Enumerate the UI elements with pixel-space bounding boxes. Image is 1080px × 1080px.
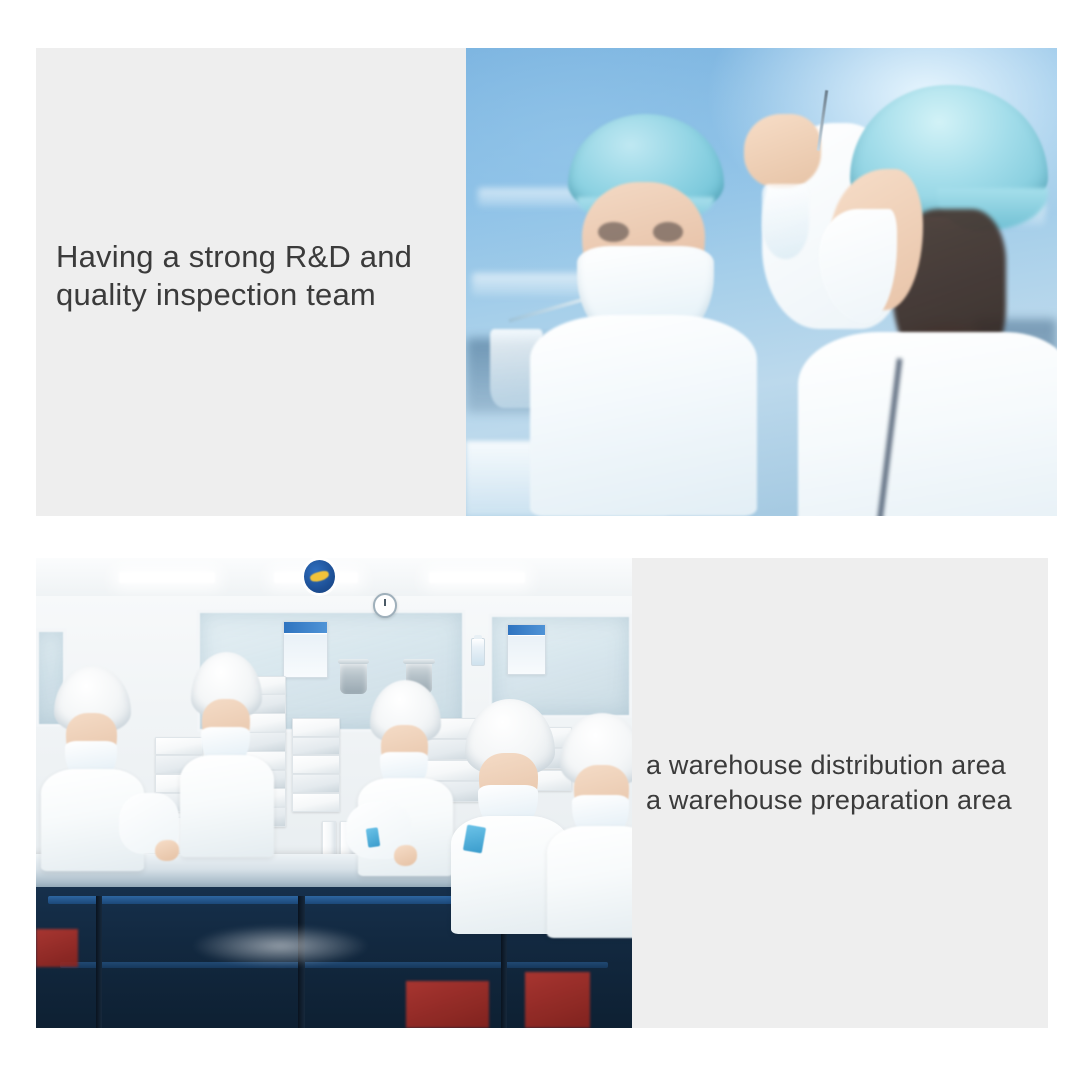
carton-box	[292, 755, 340, 774]
flask-icon	[762, 184, 809, 259]
wall-poster	[507, 624, 546, 676]
red-accent	[36, 929, 78, 967]
warehouse-packaging-photo	[36, 558, 632, 1028]
lab-inspection-photo	[466, 48, 1057, 516]
steel-pot	[340, 661, 367, 694]
red-accent	[406, 981, 489, 1028]
top-caption-text: Having a strong R&D and quality inspecti…	[56, 238, 456, 314]
carton-box	[292, 718, 340, 737]
ceiling-light	[119, 572, 214, 583]
worker-hand	[394, 845, 418, 866]
carton-box	[292, 793, 340, 812]
blue-card	[366, 828, 380, 848]
top-caption-panel: Having a strong R&D and quality inspecti…	[36, 48, 466, 516]
packaging-worker	[191, 652, 263, 849]
bottom-caption-text: a warehouse distribution area a warehous…	[646, 748, 1041, 818]
lab-coat	[530, 315, 757, 516]
lab-coat	[180, 755, 274, 858]
lab-coat	[547, 826, 632, 938]
carton-box	[292, 774, 340, 793]
carton-box	[292, 737, 340, 756]
floor-highlight	[191, 925, 370, 967]
top-section: Having a strong R&D and quality inspecti…	[36, 48, 1057, 516]
bottle-icon	[471, 638, 485, 666]
product-info-collage: Having a strong R&D and quality inspecti…	[0, 0, 1080, 1080]
red-accent	[525, 972, 591, 1028]
wall-poster	[283, 621, 328, 677]
lab-worker-profile	[809, 85, 1057, 516]
lab-coat	[798, 332, 1057, 516]
lab-worker-front	[525, 114, 761, 516]
bottom-caption-panel: a warehouse distribution area a warehous…	[632, 558, 1048, 1028]
wall-clock-icon	[373, 593, 397, 617]
table-leg	[96, 896, 103, 1028]
packaging-worker	[560, 713, 632, 929]
packaging-worker	[465, 699, 554, 925]
bottom-section: a warehouse distribution area a warehous…	[36, 558, 1048, 1028]
ceiling-light	[429, 572, 524, 583]
worker-hand	[155, 840, 179, 861]
